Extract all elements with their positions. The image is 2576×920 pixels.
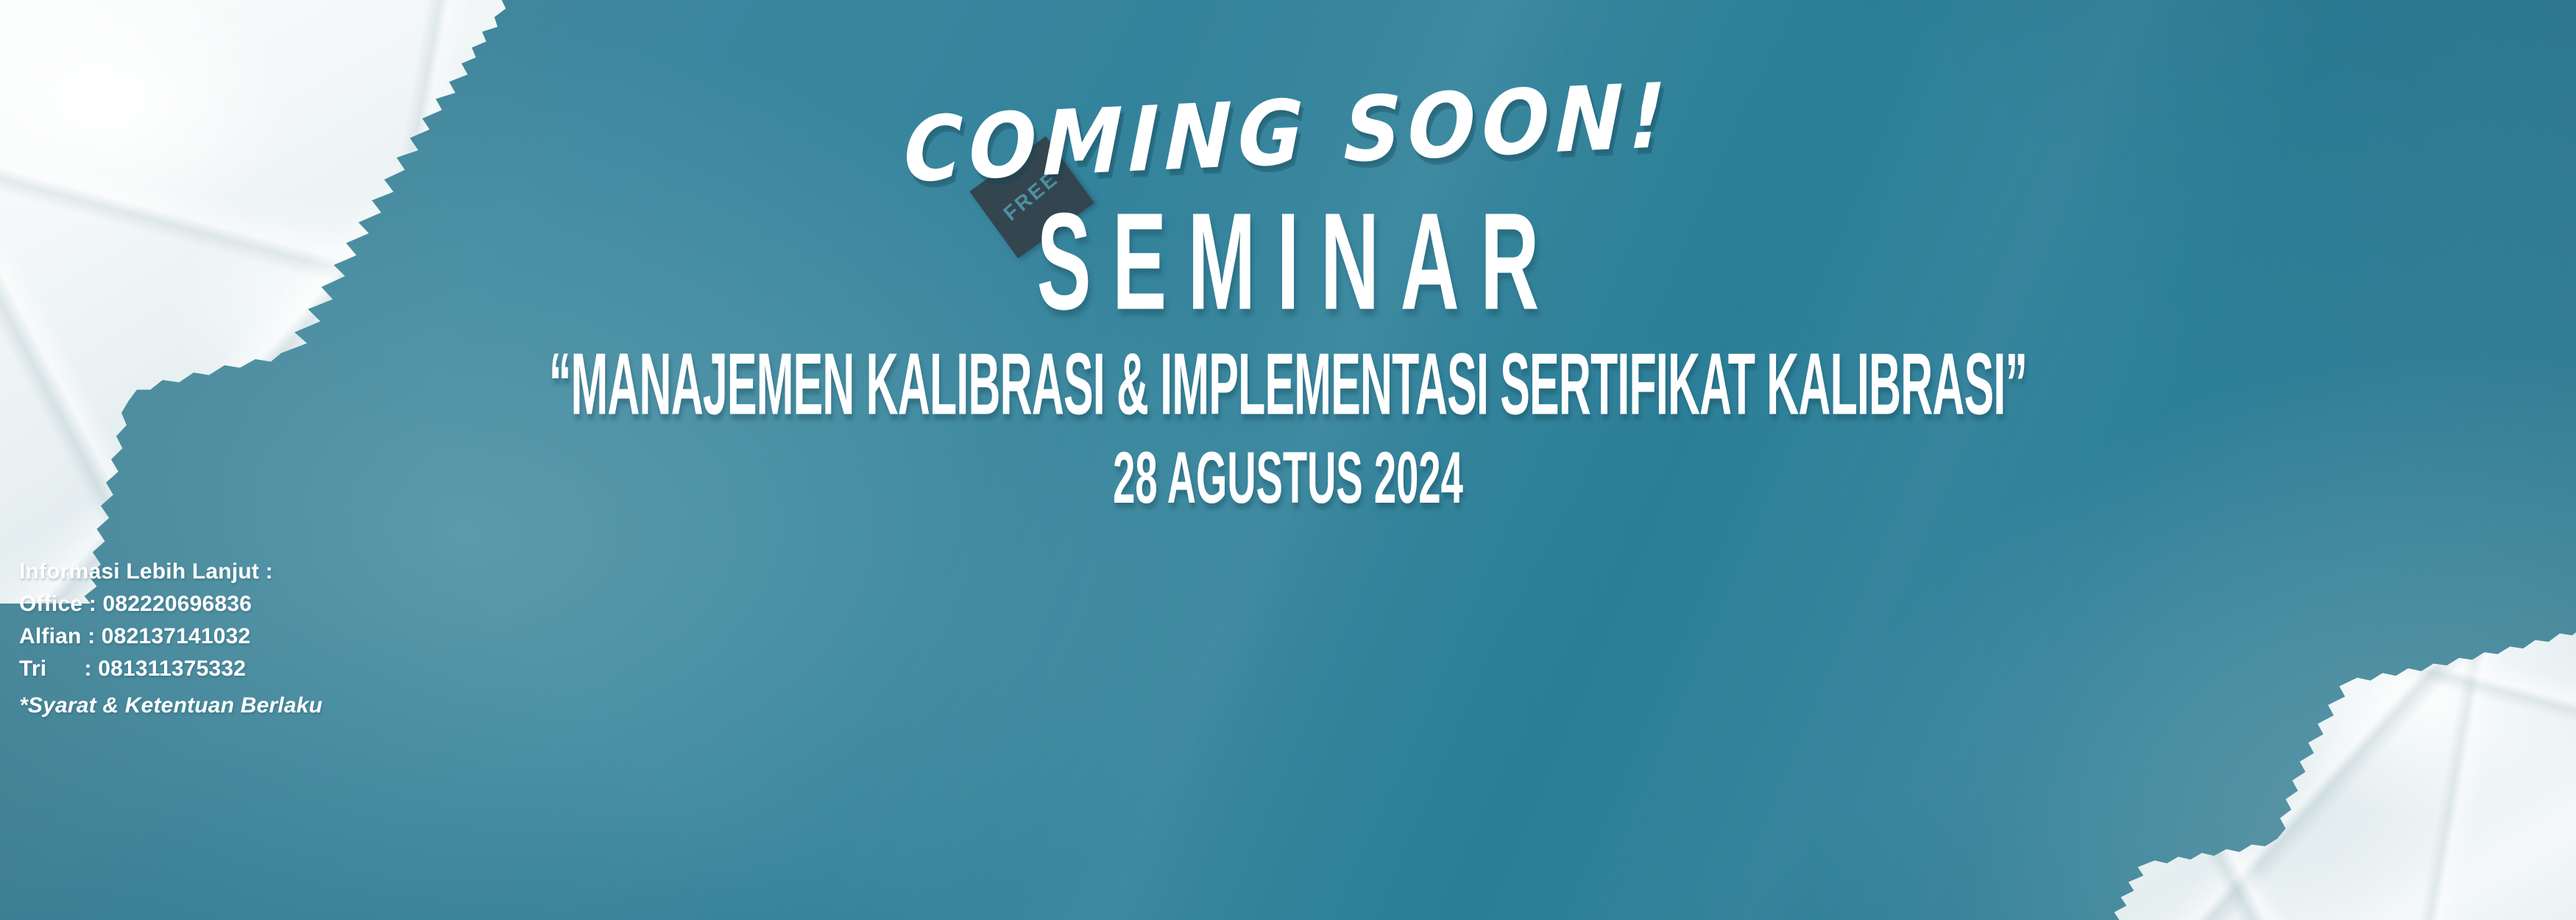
seminar-topic-subtitle: “MANAJEMEN KALIBRASI & IMPLEMENTASI SERT… [283,340,2293,428]
contact-info-block: Informasi Lebih Lanjut : Office : 082220… [19,556,322,721]
terms-disclaimer: *Syarat & Ketentuan Berlaku [19,691,322,721]
seminar-announcement-banner: FREE COMING SOON! SEMINAR “MANAJEMEN KAL… [0,0,2576,920]
contact-heading: Informasi Lebih Lanjut : [19,556,322,588]
contact-line-alfian: Alfian : 082137141032 [19,620,322,653]
event-type-title: SEMINAR [206,193,2370,330]
event-date: 28 AGUSTUS 2024 [258,442,2318,514]
contact-line-tri: Tri : 081311375332 [19,653,322,685]
contact-line-office: Office : 082220696836 [19,588,322,620]
